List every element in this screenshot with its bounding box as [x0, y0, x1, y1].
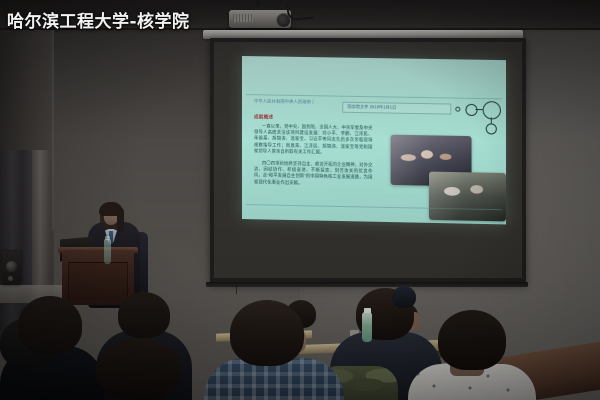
slide-paragraph: 四〇四项目始终坚持自主、艰苦开拓的企业精神，对外交流、团结协作、积极奋进、不断探… [254, 160, 372, 187]
projected-slide: 中华人民共和国中央人民政府 | 国务院文件 2018年1月1日 成就概述 一直以… [242, 56, 506, 224]
node-graph-small-node [465, 104, 477, 116]
podium-bottle-cap [105, 236, 110, 240]
screen-pull-cord [236, 286, 237, 294]
slide-bullet-marker [455, 107, 460, 112]
slide-breadcrumb: 中华人民共和国中央人民政府 | [254, 98, 314, 105]
slide-photo-site-visit [429, 172, 506, 222]
desk-bottle-cap [364, 308, 371, 313]
projector-vent [233, 14, 253, 22]
watermark-title: 哈尔滨工程大学-核学院 [7, 7, 190, 32]
node-graph-large-node [483, 101, 501, 119]
slide-section-heading: 成就概述 [254, 114, 273, 120]
wall-corner-edge [52, 30, 54, 230]
podium-water-bottle [104, 239, 111, 264]
speaker-tweeter-icon [8, 276, 13, 281]
presenter-hair-side [117, 208, 124, 232]
screen-bottom-bar [206, 282, 528, 287]
audience-head [118, 292, 170, 338]
node-graph-edge-horizontal [476, 109, 483, 110]
desk-water-bottle [362, 312, 372, 342]
audience-head [438, 310, 506, 370]
podium-front-panel [68, 262, 128, 300]
projector-cable [286, 1, 314, 22]
audience-head [392, 286, 416, 308]
slide-header-band [242, 56, 506, 98]
slide-body-text: 一直以来，党中央、国务院、全国人大、中央军委及中央领导人高度关注该项目建设发展：… [254, 123, 372, 193]
audience-head [230, 300, 304, 366]
slide-search-value: 国务院文件 2018年1月1日 [347, 103, 396, 110]
audience-head [96, 338, 182, 400]
lecture-hall-photo: 中华人民共和国中央人民政府 | 国务院文件 2018年1月1日 成就概述 一直以… [0, 0, 600, 400]
node-graph-edge-vertical [490, 117, 491, 123]
slide-paragraph: 一直以来，党中央、国务院、全国人大、中央军委及中央领导人高度关注该项目建设发展：… [254, 123, 372, 156]
photo-highlight [429, 172, 506, 222]
speaker-cone-icon [6, 261, 17, 272]
audience-head [18, 296, 82, 354]
node-graph-child-node [486, 123, 497, 134]
